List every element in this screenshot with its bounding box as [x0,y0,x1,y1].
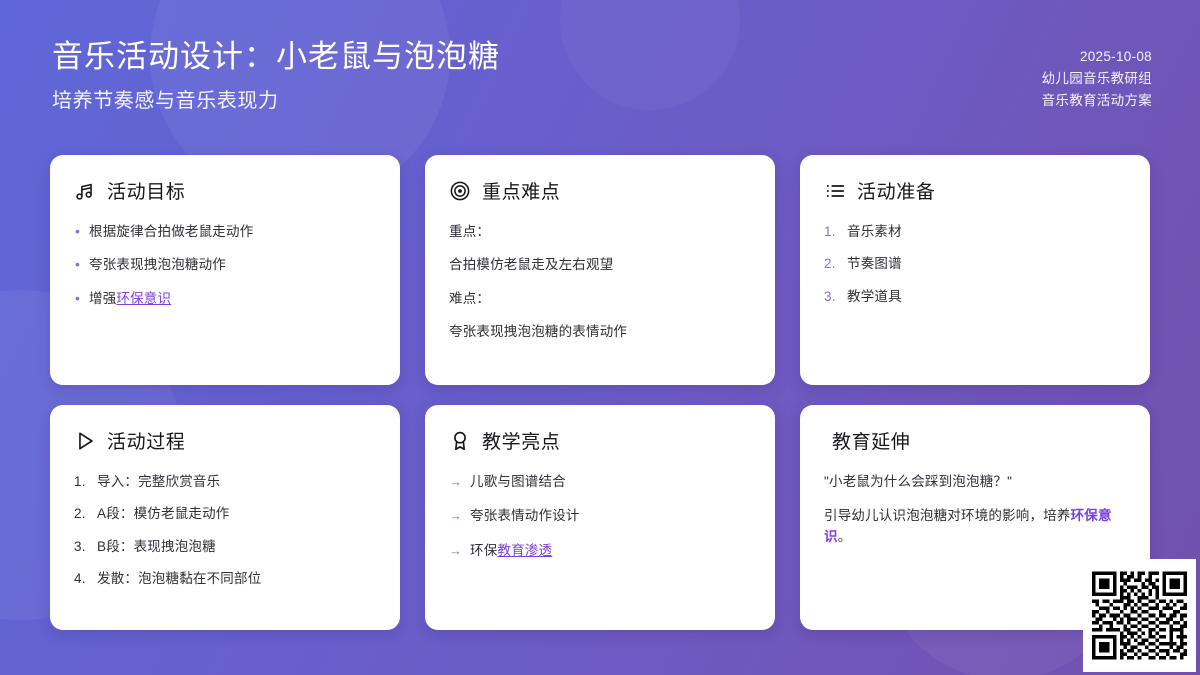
slide-root: 音乐活动设计：小老鼠与泡泡糖 培养节奏感与音乐表现力 2025-10-08 幼儿… [0,0,1200,675]
card-title: 重点难点 [482,177,560,204]
meta-category: 音乐教育活动方案 [1042,90,1152,112]
list-item: 增强环保意识 [74,289,376,309]
list-item: 教学道具 [824,287,1126,307]
list-item: 儿歌与图谱结合 [449,472,751,492]
list-item: 节奏图谱 [824,254,1126,274]
award-icon [449,430,471,452]
play-icon [74,430,96,452]
process-list: 导入：完整欣赏音乐 A段：模仿老鼠走动作 B段：表现拽泡泡糖 发散：泡泡糖黏在不… [74,472,376,589]
card-activity-goals: 活动目标 根据旋律合拍做老鼠走动作 夸张表现拽泡泡糖动作 增强环保意识 [50,155,400,385]
extension-body: 引导幼儿认识泡泡糖对环境的影响，培养环保意识。 [824,506,1126,547]
list-item: B段：表现拽泡泡糖 [74,537,376,557]
card-title: 教学亮点 [482,427,560,454]
list-item-prefix: 增强 [89,291,116,306]
highlights-list: 儿歌与图谱结合 夸张表情动作设计 环保教育渗透 [449,472,751,561]
card-header: 教学亮点 [449,427,751,454]
qr-code-container[interactable] [1083,559,1196,672]
title-block: 音乐活动设计：小老鼠与泡泡糖 培养节奏感与音乐表现力 [52,38,500,113]
list-item-prefix: 环保 [470,543,497,558]
list-item: 发散：泡泡糖黏在不同部位 [74,569,376,589]
card-key-points: 重点难点 重点： 合拍模仿老鼠走及左右观望 难点： 夸张表现拽泡泡糖的表情动作 [425,155,775,385]
music-note-icon [74,180,96,202]
list-item: A段：模仿老鼠走动作 [74,504,376,524]
qr-code [1092,568,1187,663]
list-item: 音乐素材 [824,222,1126,242]
card-grid: 活动目标 根据旋律合拍做老鼠走动作 夸张表现拽泡泡糖动作 增强环保意识 重点难点 [50,155,1150,630]
list-item: 导入：完整欣赏音乐 [74,472,376,492]
list-item: 根据旋律合拍做老鼠走动作 [74,222,376,242]
slide-header: 音乐活动设计：小老鼠与泡泡糖 培养节奏感与音乐表现力 2025-10-08 幼儿… [0,0,1200,140]
education-penetration-link[interactable]: 教育渗透 [497,543,552,558]
card-title: 教育延伸 [832,427,910,454]
page-title: 音乐活动设计：小老鼠与泡泡糖 [52,38,500,77]
focus-text-hard: 夸张表现拽泡泡糖的表情动作 [449,322,751,342]
card-title: 活动过程 [107,427,185,454]
extension-body-after: 。 [838,529,852,544]
card-header: 活动过程 [74,427,376,454]
meta-org: 幼儿园音乐教研组 [1042,68,1152,90]
target-icon [449,180,471,202]
list-item: 环保教育渗透 [449,541,751,561]
card-preparation: 活动准备 音乐素材 节奏图谱 教学道具 [800,155,1150,385]
card-header: 重点难点 [449,177,751,204]
card-activity-process: 活动过程 导入：完整欣赏音乐 A段：模仿老鼠走动作 B段：表现拽泡泡糖 发散：泡… [50,405,400,630]
goals-list: 根据旋律合拍做老鼠走动作 夸张表现拽泡泡糖动作 增强环保意识 [74,222,376,309]
eco-awareness-link[interactable]: 环保意识 [116,291,171,306]
list-item: 夸张表情动作设计 [449,506,751,526]
card-title: 活动目标 [107,177,185,204]
card-teaching-highlights: 教学亮点 儿歌与图谱结合 夸张表情动作设计 环保教育渗透 [425,405,775,630]
meta-date: 2025-10-08 [1042,46,1152,68]
list-item: 夸张表现拽泡泡糖动作 [74,255,376,275]
focus-text-key: 合拍模仿老鼠走及左右观望 [449,255,751,275]
focus-label-key: 重点： [449,222,751,242]
card-header: 活动目标 [74,177,376,204]
list-icon [824,180,846,202]
header-meta: 2025-10-08 幼儿园音乐教研组 音乐教育活动方案 [1042,38,1152,112]
page-subtitle: 培养节奏感与音乐表现力 [52,84,500,113]
focus-label-hard: 难点： [449,289,751,309]
extension-quote: "小老鼠为什么会踩到泡泡糖？" [824,472,1126,492]
card-header: 教育延伸 [824,427,1126,454]
preparation-list: 音乐素材 节奏图谱 教学道具 [824,222,1126,307]
card-header: 活动准备 [824,177,1126,204]
card-title: 活动准备 [857,177,935,204]
extension-body-before: 引导幼儿认识泡泡糖对环境的影响，培养 [824,508,1071,523]
